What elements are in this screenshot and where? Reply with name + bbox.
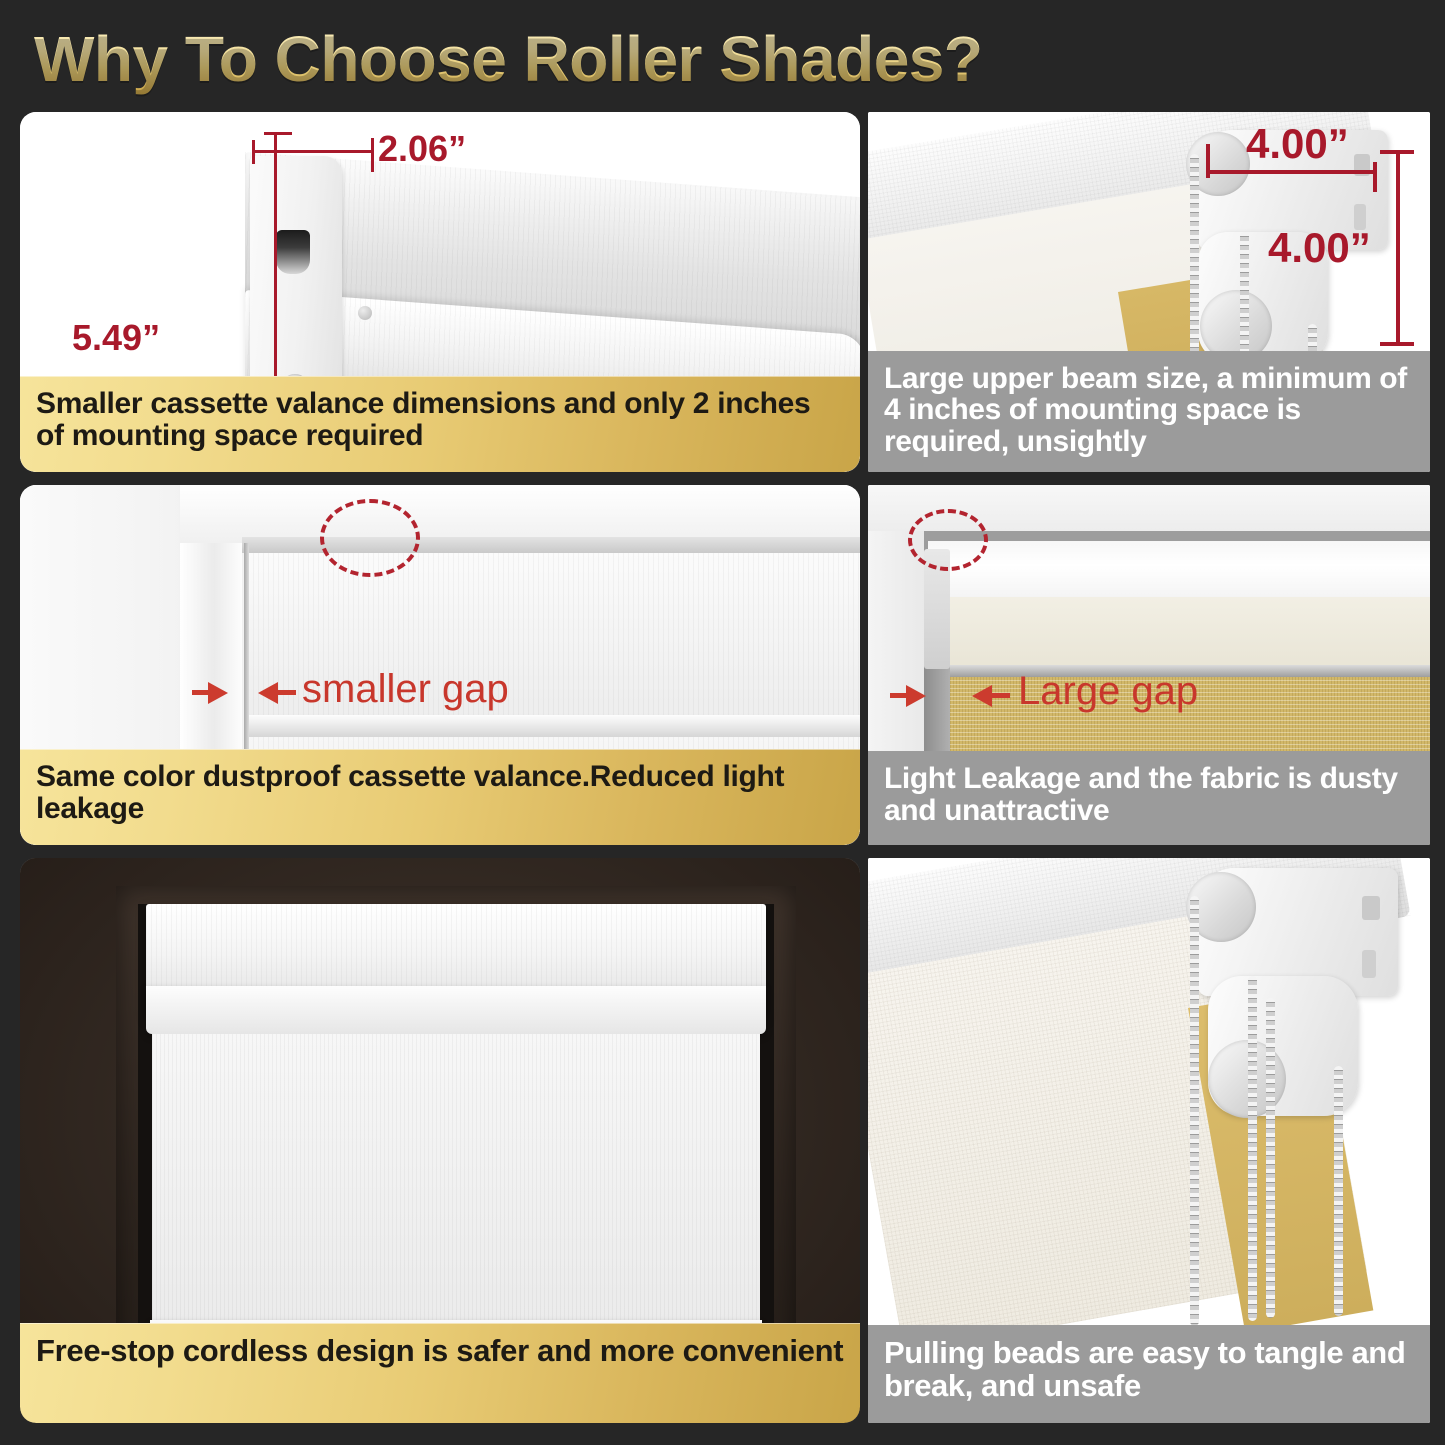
highlight-circle-icon: [320, 499, 420, 577]
dim-height-tick-top: [1380, 150, 1414, 154]
panel-cordless-design: Free-stop cordless design is safer and m…: [20, 858, 860, 1423]
dim-height-tick-top: [264, 132, 292, 135]
shade-fabric-body: [152, 1034, 760, 1324]
bead-chain-inner: [1266, 998, 1275, 1318]
panel-2-caption: Large upper beam size, a minimum of 4 in…: [868, 351, 1430, 472]
dim-width-tick-left: [252, 140, 255, 164]
dim-height-label: 4.00”: [1268, 224, 1371, 272]
panel-3-caption: Same color dustproof cassette valance.Re…: [20, 749, 860, 845]
panel-6-caption: Pulling beads are easy to tangle and bre…: [868, 1325, 1430, 1423]
dim-width-tick-right: [371, 138, 374, 172]
gap-arrow-right-icon: [972, 685, 992, 707]
dim-width-label: 2.06”: [378, 128, 466, 170]
smaller-gap-label: smaller gap: [302, 667, 509, 712]
dim-width-line: [1208, 170, 1376, 174]
dim-width-tick-right: [1373, 162, 1377, 192]
bracket-small-screw-icon: [358, 306, 372, 320]
dim-height-tick-bottom: [1380, 342, 1414, 346]
bead-chain-left: [1190, 896, 1199, 1326]
panel-4-caption: Light Leakage and the fabric is dusty an…: [868, 751, 1430, 845]
panel-5-caption: Free-stop cordless design is safer and m…: [20, 1323, 860, 1423]
panel-large-beam: 4.00” 4.00” Large upper beam size, a min…: [868, 112, 1430, 472]
bracket-notch-1: [1362, 896, 1380, 920]
cream-fabric-band: [946, 597, 1430, 669]
comparison-grid: 2.06” 5.49” Smaller cassette valance dim…: [0, 108, 1445, 1445]
panel-pulling-beads: Pulling beads are easy to tangle and bre…: [868, 858, 1430, 1423]
gap-arrow-right-icon: [258, 682, 278, 704]
bracket-notch-2: [1362, 950, 1376, 978]
bracket-slot-icon: [276, 230, 310, 274]
valance-bottom-rail: [244, 715, 860, 737]
dim-width-tick-left: [1206, 144, 1210, 178]
large-gap-label: Large gap: [1018, 669, 1198, 714]
dim-height-line: [1396, 150, 1400, 346]
dim-width-line: [252, 150, 374, 153]
window-head-trim: [180, 485, 860, 543]
panel-large-gap: Large gap Light Leakage and the fabric i…: [868, 485, 1430, 845]
bead-chain-middle: [1248, 976, 1257, 1321]
highlight-circle-icon: [908, 509, 988, 571]
page-header: Why To Choose Roller Shades?: [0, 0, 1445, 108]
page-title: Why To Choose Roller Shades?: [34, 22, 982, 96]
dim-height-label: 5.49”: [72, 317, 160, 359]
gap-arrow-left-stem: [890, 693, 910, 698]
gap-arrow-left-stem: [192, 690, 212, 695]
panel-1-caption: Smaller cassette valance dimensions and …: [20, 376, 860, 472]
bead-chain-right: [1334, 1066, 1343, 1316]
gap-arrow-right-stem: [276, 690, 296, 695]
dim-width-label: 4.00”: [1246, 120, 1349, 168]
shade-valance-lip: [146, 986, 766, 1034]
panel-smaller-gap: smaller gap Same color dustproof cassett…: [20, 485, 860, 845]
gap-arrow-right-stem: [990, 693, 1010, 698]
panel-smaller-cassette: 2.06” 5.49” Smaller cassette valance dim…: [20, 112, 860, 472]
